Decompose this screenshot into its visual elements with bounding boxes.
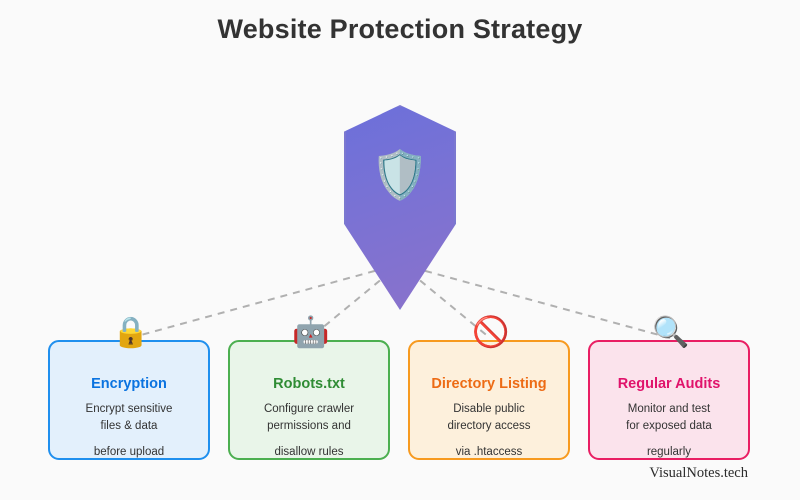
central-shield-node: 🛡️ xyxy=(344,105,456,310)
card-robots-txt-line2: permissions and xyxy=(230,418,388,435)
shield-body-shape xyxy=(344,105,456,310)
lock-icon: 🔒 xyxy=(50,318,212,348)
card-encryption-line2: files & data xyxy=(50,418,208,435)
card-regular-audits-heading: Regular Audits xyxy=(590,376,748,392)
card-robots-txt-heading: Robots.txt xyxy=(230,376,388,392)
diagram-canvas: Website Protection Strategy 🛡️ 🔒 Encrypt… xyxy=(0,0,800,500)
card-robots-txt-line3: disallow rules xyxy=(230,444,388,461)
card-regular-audits-line2: for exposed data xyxy=(590,418,748,435)
prohibited-icon: 🚫 xyxy=(410,318,572,348)
card-directory-listing-line2: directory access xyxy=(410,418,568,435)
card-encryption-line3: before upload xyxy=(50,444,208,461)
card-regular-audits-line1: Monitor and test xyxy=(590,401,748,418)
magnifying-glass-icon: 🔍 xyxy=(590,318,752,348)
footer-watermark: VisualNotes.tech xyxy=(649,465,748,482)
card-regular-audits[interactable]: 🔍 Regular Audits Monitor and test for ex… xyxy=(588,340,750,460)
card-encryption-heading: Encryption xyxy=(50,376,208,392)
card-robots-txt-line1: Configure crawler xyxy=(230,401,388,418)
card-directory-listing-line3: via .htaccess xyxy=(410,444,568,461)
card-encryption-line1: Encrypt sensitive xyxy=(50,401,208,418)
card-regular-audits-line3: regularly xyxy=(590,444,748,461)
robot-icon: 🤖 xyxy=(230,318,392,348)
card-directory-listing[interactable]: 🚫 Directory Listing Disable public direc… xyxy=(408,340,570,460)
card-robots-txt[interactable]: 🤖 Robots.txt Configure crawler permissio… xyxy=(228,340,390,460)
card-directory-listing-heading: Directory Listing xyxy=(410,376,568,392)
card-directory-listing-line1: Disable public xyxy=(410,401,568,418)
shield-icon: 🛡️ xyxy=(344,151,456,198)
card-encryption[interactable]: 🔒 Encryption Encrypt sensitive files & d… xyxy=(48,340,210,460)
